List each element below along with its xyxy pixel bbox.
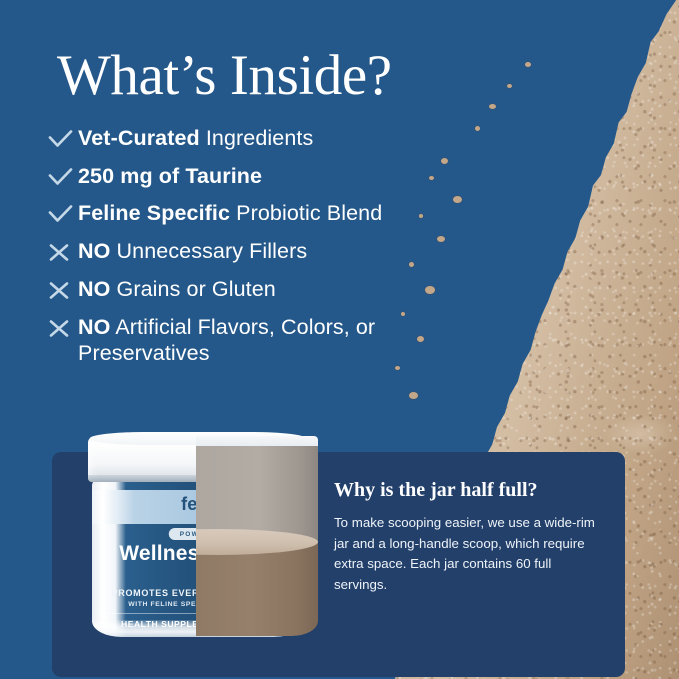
list-item-bold: NO (78, 277, 110, 301)
list-item-rest: Ingredients (200, 126, 314, 150)
list-item: Vet-Curated Ingredients (48, 125, 478, 151)
jar-info-card-body: To make scooping easier, we use a wide-r… (334, 513, 602, 595)
list-item-text: Feline Specific Probiotic Blend (78, 200, 382, 226)
list-item-rest: Grains or Gluten (110, 277, 275, 301)
cross-icon (48, 238, 78, 262)
powder-speck (489, 104, 496, 109)
list-item: Feline Specific Probiotic Blend (48, 200, 478, 226)
list-item-rest: Unnecessary Fillers (110, 239, 307, 263)
check-icon (48, 200, 78, 224)
jar-info-card-title: Why is the jar half full? (334, 479, 602, 502)
list-item-rest: Probiotic Blend (230, 201, 382, 225)
list-item: NO Unnecessary Fillers (48, 238, 478, 264)
powder-speck (409, 392, 418, 399)
list-item-text: NO Artificial Flavors, Colors, or Preser… (78, 314, 423, 366)
cutaway-powder-fill (196, 542, 318, 636)
cross-icon (48, 276, 78, 300)
list-item-text: Vet-Curated Ingredients (78, 125, 313, 151)
check-icon (48, 163, 78, 187)
jar-info-card-content: Why is the jar half full? To make scoopi… (334, 479, 602, 595)
infographic-canvas: What’s Inside? Vet-Curated Ingredients 2… (0, 0, 679, 679)
page-title: What’s Inside? (57, 46, 392, 106)
list-item: 250 mg of Taurine (48, 163, 478, 189)
list-item-bold: NO (78, 315, 110, 339)
list-item-bold: NO (78, 239, 110, 263)
list-item-text: 250 mg of Taurine (78, 163, 262, 189)
powder-speck (525, 62, 531, 67)
powder-speck (507, 84, 512, 88)
cross-icon (48, 314, 78, 338)
check-icon (48, 125, 78, 149)
jar-fill-level-cutaway (196, 436, 318, 636)
list-item-text: NO Unnecessary Fillers (78, 238, 307, 264)
benefits-list: Vet-Curated Ingredients 250 mg of Taurin… (48, 125, 478, 378)
list-item-bold: Feline Specific (78, 201, 230, 225)
list-item-bold: 250 mg of Taurine (78, 164, 262, 188)
list-item: NO Artificial Flavors, Colors, or Preser… (48, 314, 423, 366)
list-item-text: NO Grains or Gluten (78, 276, 276, 302)
list-item-bold: Vet-Curated (78, 126, 200, 150)
list-item: NO Grains or Gluten (48, 276, 478, 302)
list-item-rest: Artificial Flavors, Colors, or Preservat… (78, 315, 375, 365)
